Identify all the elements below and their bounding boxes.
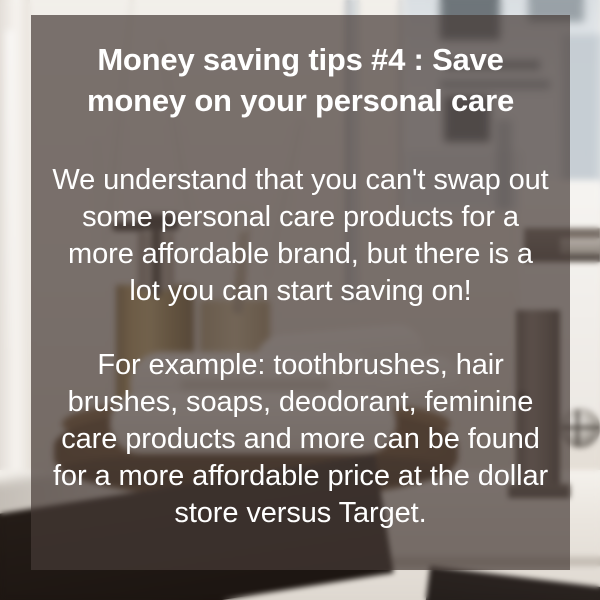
social-tip-card: Money saving tips #4 : Save money on you… [0, 0, 600, 600]
body-copy: We understand that you can't swap out so… [45, 162, 556, 532]
body-paragraph-1: We understand that you can't swap out so… [51, 162, 550, 310]
page-title: Money saving tips #4 : Save money on you… [45, 39, 556, 121]
title-body-spacer [45, 121, 556, 162]
text-overlay-panel: Money saving tips #4 : Save money on you… [31, 15, 570, 570]
panel-sheen [6, 30, 13, 350]
paragraph-gap [51, 310, 550, 347]
body-paragraph-2: For example: toothbrushes, hair brushes,… [51, 347, 550, 532]
